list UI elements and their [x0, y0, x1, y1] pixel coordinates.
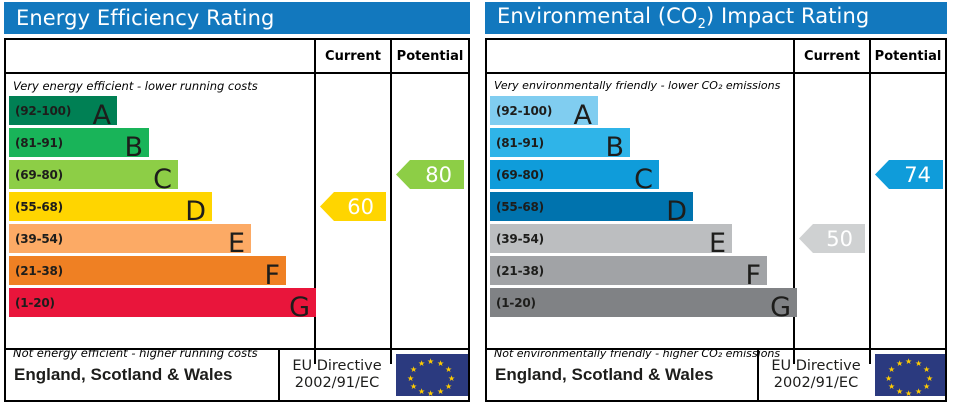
band-range-g-co2: (1-20) [496, 296, 536, 310]
band-bar-group: (92-100) A (81-91) B (69-80) C (55-68) D [9, 96, 316, 320]
band-bar-g-co2: (1-20) G [490, 288, 797, 317]
header-separator-2 [390, 40, 392, 72]
chart-frame: Current Potential Very energy efficient … [4, 38, 470, 402]
band-range-e: (39-54) [15, 232, 63, 246]
band-letter-b: B [124, 134, 143, 161]
band-range-d-co2: (55-68) [496, 200, 544, 214]
current-rating-value: 60 [347, 195, 374, 219]
footer-separator [278, 350, 280, 400]
column-header-current-co2: Current [795, 40, 869, 72]
footer-region-label-co2: England, Scotland & Wales [495, 350, 714, 400]
band-bar-b-co2: (81-91) B [490, 128, 630, 157]
band-bar-c-co2: (69-80) C [490, 160, 659, 189]
band-letter-d-co2: D [666, 198, 687, 225]
band-range-e-co2: (39-54) [496, 232, 544, 246]
page-title: Energy Efficiency Rating [16, 6, 274, 30]
column-header-row: Current Potential [6, 40, 468, 74]
band-bar-e-co2: (39-54) E [490, 224, 732, 253]
band-bar-c: (69-80) C [9, 160, 178, 189]
band-bar-b: (81-91) B [9, 128, 149, 157]
energy-efficiency-rating-chart: Energy Efficiency Rating Current Potenti… [0, 0, 476, 404]
band-letter-e-co2: E [709, 230, 726, 257]
eu-directive-line2-co2: 2002/91/EC [774, 375, 858, 392]
eu-directive-line1: EU Directive [292, 358, 381, 375]
chart-body: Very energy efficient - lower running co… [6, 74, 468, 364]
band-bar-d: (55-68) D [9, 192, 212, 221]
band-bar-a-co2: (92-100) A [490, 96, 598, 125]
potential-rating-value-co2: 74 [904, 163, 931, 187]
caption-very-friendly: Very environmentally friendly - lower CO… [494, 79, 780, 92]
band-bar-f: (21-38) F [9, 256, 286, 285]
certificate-footer: England, Scotland & Wales EU Directive 2… [6, 348, 468, 400]
band-letter-b-co2: B [605, 134, 624, 161]
band-bar-a: (92-100) A [9, 96, 117, 125]
potential-rating-arrow-co2: 74 [875, 160, 943, 189]
eu-directive-line1-co2: EU Directive [771, 358, 860, 375]
band-bar-group-co2: (92-100) A (81-91) B (69-80) C (55-68) D [490, 96, 797, 320]
epc-certificate-pair: Energy Efficiency Rating Current Potenti… [0, 0, 957, 404]
band-bar-f-co2: (21-38) F [490, 256, 767, 285]
caption-very-efficient: Very energy efficient - lower running co… [13, 79, 258, 93]
band-letter-d: D [185, 198, 206, 225]
current-rating-arrow: 60 [320, 192, 386, 221]
chart-title-bar: Energy Efficiency Rating [4, 2, 470, 34]
band-letter-a: A [93, 102, 111, 129]
body-separator-2 [390, 74, 392, 364]
footer-separator-co2 [757, 350, 759, 400]
header-separator-1-co2 [793, 40, 795, 72]
chart-title-bar-co2: Environmental (CO2) Impact Rating [485, 2, 947, 34]
footer-eu-directive-co2: EU Directive 2002/91/EC [761, 350, 871, 400]
band-range-c: (69-80) [15, 168, 63, 182]
column-header-row-co2: Current Potential [487, 40, 945, 74]
band-bar-e: (39-54) E [9, 224, 251, 253]
band-range-f-co2: (21-38) [496, 264, 544, 278]
band-letter-a-co2: A [574, 102, 592, 129]
eu-flag-icon: ★ ★ ★ ★ ★ ★ ★ ★ ★ ★ ★ ★ [396, 354, 468, 396]
band-letter-e: E [228, 230, 245, 257]
band-bar-d-co2: (55-68) D [490, 192, 693, 221]
band-range-g: (1-20) [15, 296, 55, 310]
eu-directive-line2: 2002/91/EC [295, 375, 379, 392]
band-letter-c: C [153, 166, 172, 193]
chart-frame-co2: Current Potential Very environmentally f… [485, 38, 947, 402]
band-letter-g-co2: G [770, 294, 791, 321]
band-letter-g: G [289, 294, 310, 321]
header-separator-2-co2 [869, 40, 871, 72]
current-rating-value-co2: 50 [826, 227, 853, 251]
chart-body-co2: Very environmentally friendly - lower CO… [487, 74, 945, 364]
environmental-impact-rating-chart: Environmental (CO2) Impact Rating Curren… [481, 0, 953, 404]
band-range-c-co2: (69-80) [496, 168, 544, 182]
body-separator-2-co2 [869, 74, 871, 364]
footer-region-label: England, Scotland & Wales [14, 350, 233, 400]
band-letter-f-co2: F [745, 262, 761, 289]
column-header-potential-co2: Potential [871, 40, 945, 72]
eu-flag-icon-co2: ★ ★ ★ ★ ★ ★ ★ ★ ★ ★ ★ ★ [875, 354, 945, 396]
band-bar-g: (1-20) G [9, 288, 316, 317]
band-range-b-co2: (81-91) [496, 136, 544, 150]
column-header-current: Current [316, 40, 390, 72]
band-letter-f: F [264, 262, 280, 289]
current-rating-arrow-co2: 50 [799, 224, 865, 253]
band-letter-c-co2: C [634, 166, 653, 193]
page-title-co2: Environmental (CO2) Impact Rating [497, 4, 869, 32]
band-range-f: (21-38) [15, 264, 63, 278]
column-header-potential: Potential [392, 40, 468, 72]
header-separator-1 [314, 40, 316, 72]
footer-eu-directive: EU Directive 2002/91/EC [282, 350, 392, 400]
band-range-a-co2: (92-100) [496, 104, 552, 118]
band-range-d: (55-68) [15, 200, 63, 214]
potential-rating-value: 80 [425, 163, 452, 187]
potential-rating-arrow: 80 [396, 160, 464, 189]
band-range-a: (92-100) [15, 104, 71, 118]
certificate-footer-co2: England, Scotland & Wales EU Directive 2… [487, 348, 945, 400]
band-range-b: (81-91) [15, 136, 63, 150]
